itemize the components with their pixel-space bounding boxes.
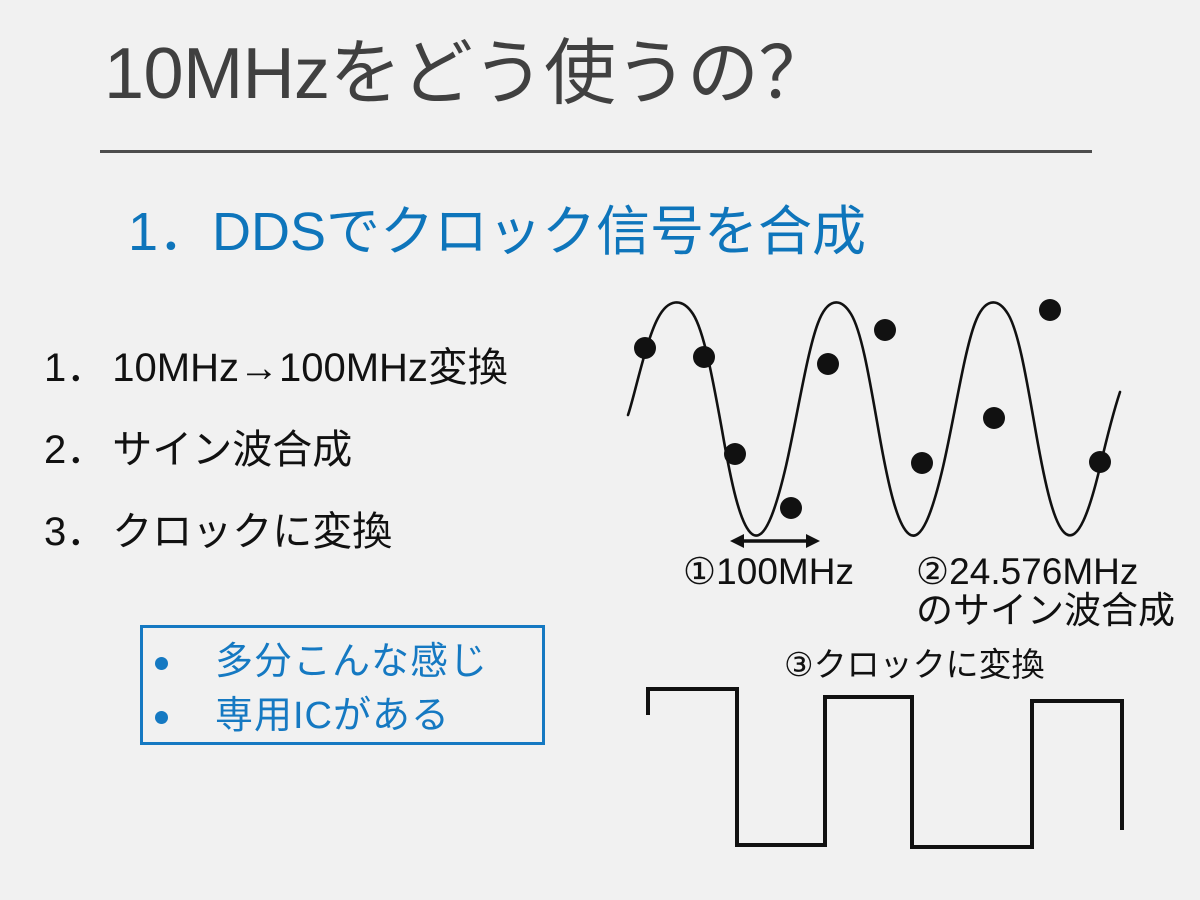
step-label: 10MHz→100MHz変換 — [112, 348, 508, 388]
step-number: 1． — [44, 348, 106, 388]
list-item: 1．10MHz→100MHz変換 — [44, 348, 644, 388]
callout-box: 多分こんな感じ 専用ICがある — [140, 625, 545, 745]
section-subtitle: 1．DDSでクロック信号を合成 — [128, 205, 866, 259]
sine-curve — [628, 302, 1120, 535]
sample-dot — [817, 353, 839, 375]
sample-dot — [634, 337, 656, 359]
square-wave-svg — [620, 675, 1150, 860]
sine-wave-diagram — [600, 270, 1160, 560]
sample-dot — [693, 346, 715, 368]
slide-canvas: 10MHzをどう使うの？ 1．DDSでクロック信号を合成 1．10MHz→100… — [0, 0, 1200, 900]
sample-dot — [724, 443, 746, 465]
step-number: 2． — [44, 430, 106, 470]
step-label: クロックに変換 — [112, 512, 392, 552]
sample-dot — [1089, 451, 1111, 473]
callout-list: 多分こんな感じ 専用ICがある — [143, 628, 542, 743]
sample-dot — [780, 497, 802, 519]
sample-dot — [983, 407, 1005, 429]
sample-dot — [874, 319, 896, 341]
list-item: 専用ICがある — [143, 689, 542, 743]
figure-label-step2-line2: のサイン波合成 — [916, 591, 1175, 630]
square-wave-diagram — [620, 675, 1150, 860]
list-item: 3．クロックに変換 — [44, 512, 644, 552]
figure-label-step2-line1: ②24.576MHz — [916, 551, 1138, 592]
sample-dot — [1039, 299, 1061, 321]
square-wave-path — [648, 689, 1122, 847]
figure-label-step1: ①100MHz — [683, 552, 854, 591]
steps-list: 1．10MHz→100MHz変換 2．サイン波合成 3．クロックに変換 — [44, 348, 644, 594]
page-title: 10MHzをどう使うの？ — [104, 38, 830, 110]
sample-dot — [911, 452, 933, 474]
step-number: 3． — [44, 512, 106, 552]
sine-sample-dots — [634, 299, 1111, 519]
sine-wave-svg — [600, 270, 1160, 560]
list-item: 多分こんな感じ — [143, 635, 542, 689]
step-label: サイン波合成 — [112, 430, 352, 470]
title-divider — [100, 150, 1092, 153]
arrow-head-right — [806, 534, 820, 548]
arrow-head-left — [730, 534, 744, 548]
list-item: 2．サイン波合成 — [44, 430, 644, 470]
figure-label-step2: ②24.576MHz のサイン波合成 — [916, 552, 1175, 630]
